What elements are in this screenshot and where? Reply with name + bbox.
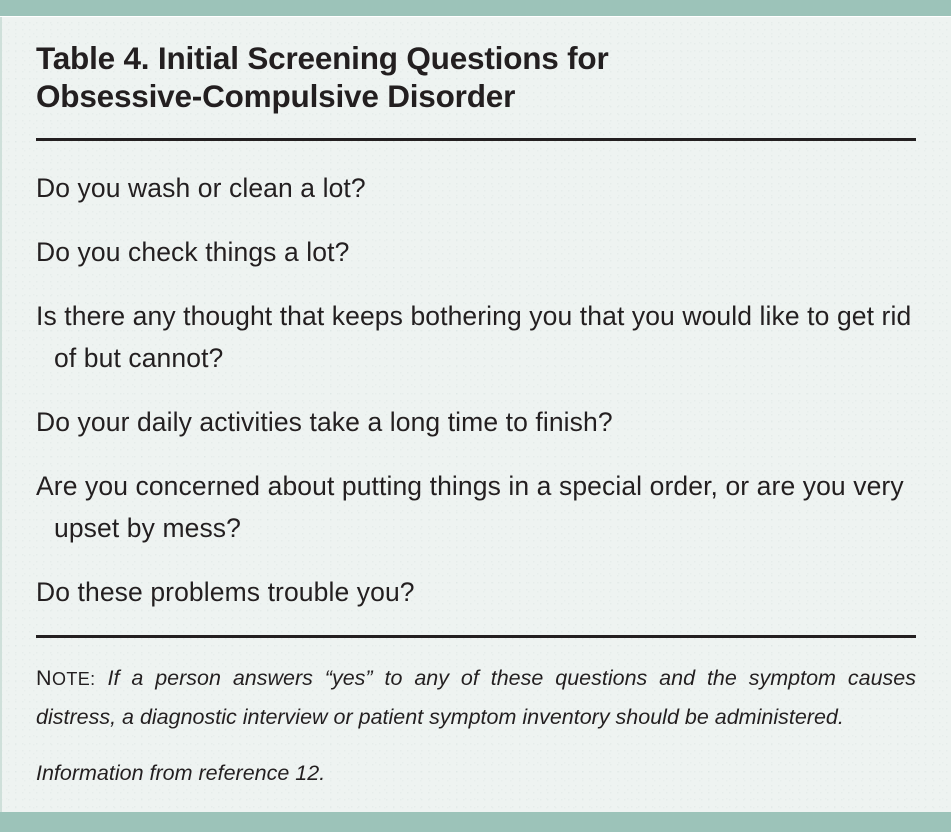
bottom-accent-band (0, 812, 951, 832)
source-attribution: Information from reference 12. (36, 758, 916, 788)
note-label: NOTE: (36, 669, 96, 689)
note-label-capital: N (36, 666, 52, 690)
note-text: If a person answers “yes” to any of thes… (36, 666, 916, 729)
screening-question-list: Do you wash or clean a lot? Do you check… (36, 167, 915, 613)
header-divider-rule (36, 138, 916, 141)
table-title-line-1: Table 4. Initial Screening Questions for (36, 39, 796, 77)
note-paragraph: NOTE: If a person answers “yes” to any o… (36, 659, 916, 736)
list-item: Is there any thought that keeps botherin… (36, 295, 914, 379)
footer-divider-rule (36, 635, 916, 638)
table-card: Table 4. Initial Screening Questions for… (0, 0, 951, 832)
list-item: Do these problems trouble you? (36, 571, 914, 613)
table-title: Table 4. Initial Screening Questions for… (36, 16, 796, 115)
top-accent-band (0, 0, 951, 16)
table-footnote-block: NOTE: If a person answers “yes” to any o… (36, 659, 915, 788)
list-item: Do you check things a lot? (36, 231, 914, 273)
list-item: Do you wash or clean a lot? (36, 167, 914, 209)
note-label-rest: OTE: (52, 669, 96, 689)
list-item: Are you concerned about putting things i… (36, 465, 914, 549)
table-content: Table 4. Initial Screening Questions for… (0, 16, 951, 812)
list-item: Do your daily activities take a long tim… (36, 401, 914, 443)
table-title-line-2: Obsessive-Compulsive Disorder (36, 77, 796, 115)
